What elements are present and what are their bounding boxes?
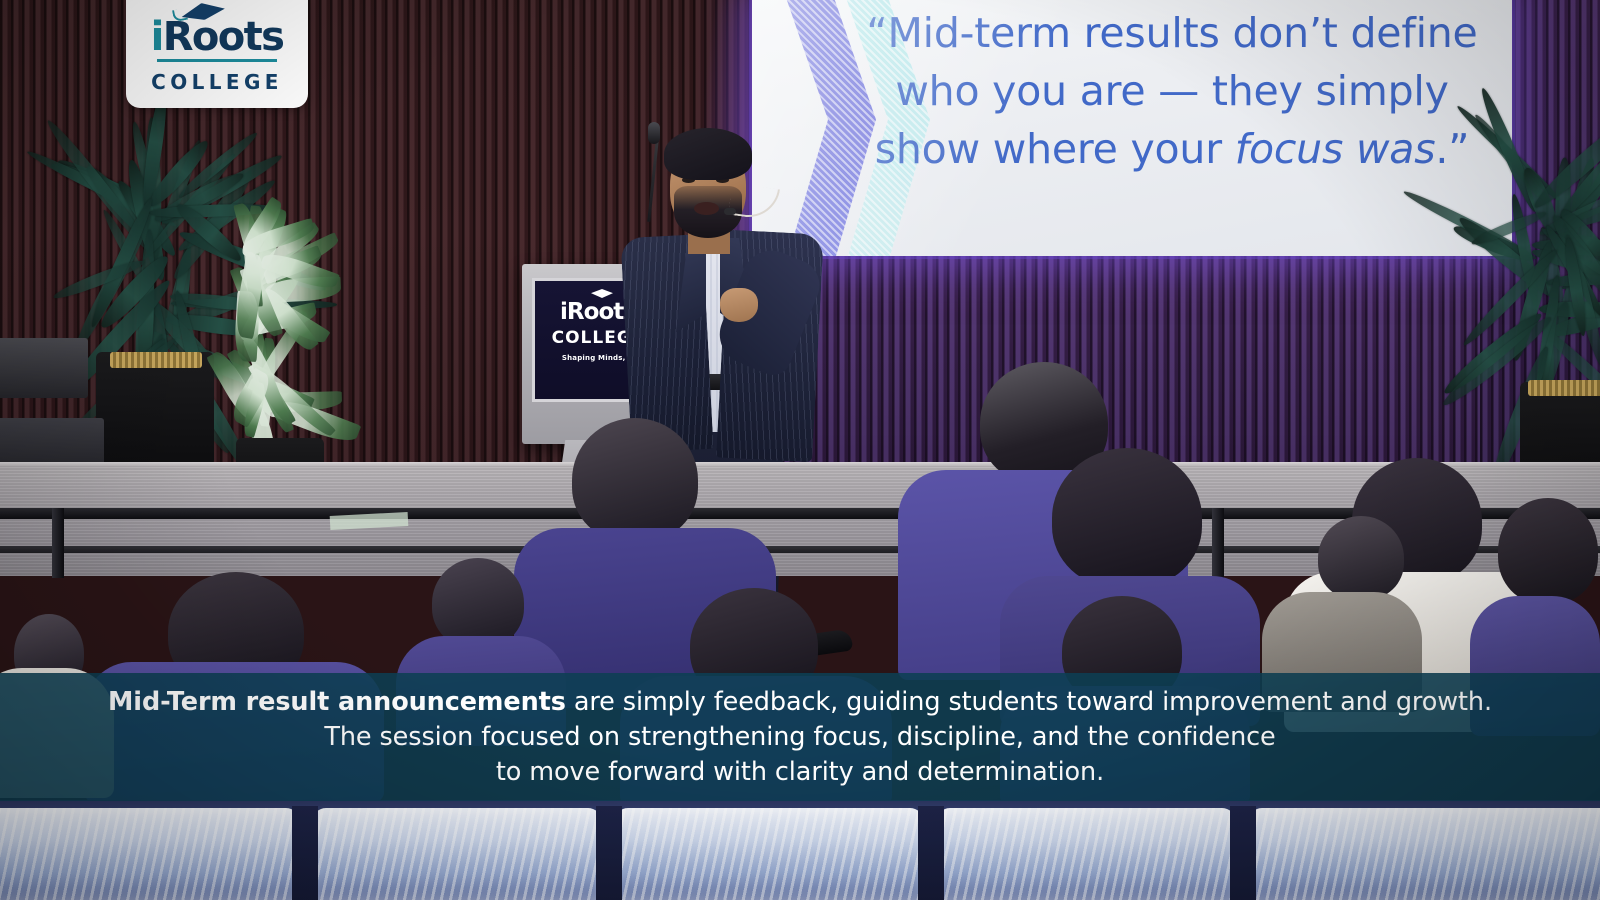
foreground-chair-row (0, 800, 1600, 900)
chair-divider (918, 806, 944, 900)
headset-microphone-tip (724, 208, 736, 215)
slide-quote-line-3: show where your focus was.” (852, 120, 1492, 178)
brand-logo-i: i (151, 14, 163, 60)
speaker-hand (720, 288, 758, 322)
brand-logo-subtitle: COLLEGE (151, 70, 283, 94)
chair-divider (292, 806, 318, 900)
audience-member-head (432, 558, 524, 648)
caption-line-1-rest: are simply feedback, guiding students to… (566, 687, 1492, 717)
plant-pot-gold-band-right (1528, 380, 1600, 396)
chair-back (936, 808, 1236, 900)
slide-quote-line-2: who you are — they simply (852, 62, 1492, 120)
slide-quote-line-3-post: .” (1435, 125, 1469, 173)
chair-back (312, 808, 602, 900)
speaker-hair (664, 128, 752, 180)
brand-logo-wordmark: iRoots (151, 17, 284, 57)
podium-graduation-cap-icon (591, 289, 613, 298)
stage-railing-post (1212, 508, 1224, 578)
slide-quote: “Mid-term results don’t define who you a… (852, 4, 1492, 179)
chair-divider (596, 806, 622, 900)
chair-divider (1230, 806, 1256, 900)
projection-screen: “Mid-term results don’t define who you a… (752, 0, 1512, 256)
slide-quote-line-1: “Mid-term results don’t define (852, 4, 1492, 62)
chair-back (614, 808, 924, 900)
audience-member-head (1052, 448, 1202, 588)
slide-quote-emphasis: focus was (1235, 125, 1436, 173)
audience-member-head (572, 418, 698, 542)
speaker-mouth (694, 202, 719, 215)
chair-back (0, 808, 300, 900)
caption-line-3: to move forward with clarity and determi… (496, 755, 1104, 790)
headset-microphone-icon (728, 183, 780, 221)
event-photo: “Mid-term results don’t define who you a… (0, 0, 1600, 900)
slide-quote-line-3-pre: show where your (875, 125, 1235, 173)
brand-logo-badge: iRoots COLLEGE (126, 0, 308, 108)
caption-line-1-bold: Mid-Term result announcements (108, 687, 566, 717)
palm-plant-right (1490, 120, 1600, 420)
audience-member-head (1318, 516, 1404, 600)
caption-line-2: The session focused on strengthening foc… (324, 720, 1275, 755)
caption-banner: Mid-Term result announcements are simply… (0, 673, 1600, 801)
stage-railing-post (52, 508, 64, 578)
caption-line-1: Mid-Term result announcements are simply… (108, 685, 1492, 720)
equipment-case-top (0, 338, 88, 398)
audience-member-head (1498, 498, 1598, 604)
variegated-plant (148, 190, 398, 480)
chair-back (1248, 808, 1600, 900)
